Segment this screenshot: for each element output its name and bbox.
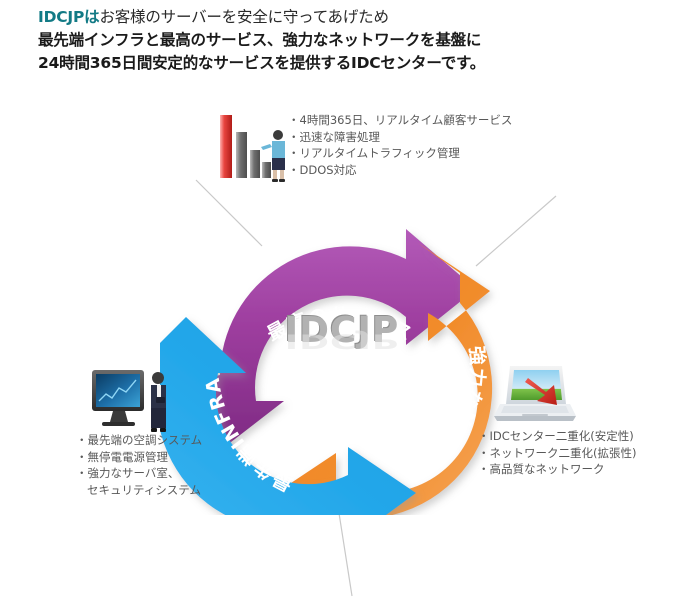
- list-item: ・4時間365日、リアルタイム顧客サービス: [288, 112, 512, 129]
- list-item: ・強力なサーバ室、: [76, 465, 202, 482]
- list-item: ・IDCセンター二重化(安定性): [478, 428, 636, 445]
- list-item: ・最先端の空調システム: [76, 432, 202, 449]
- list-item: ・迅速な障害処理: [288, 129, 512, 146]
- list-item: ・リアルタイムトラフィック管理: [288, 145, 512, 162]
- page-heading: IDCJPはお客様のサーバーを安全に守ってあげため 最先端インフラと最高のサービ…: [38, 6, 638, 75]
- center-logo-reflection: IDCJP: [262, 330, 422, 351]
- bar-4: [262, 162, 271, 178]
- monitor: [92, 370, 144, 426]
- brand-name: IDCJPは: [38, 8, 99, 26]
- list-item: ・無停電電源管理: [76, 449, 202, 466]
- list-item: ・ネットワーク二重化(拡張性): [478, 445, 636, 462]
- callout-left-list: ・最先端の空調システム ・無停電電源管理 ・強力なサーバ室、 セキュリティシステ…: [76, 432, 202, 498]
- heading-line-1: IDCJPはお客様のサーバーを安全に守ってあげため: [38, 6, 638, 29]
- callout-right-list: ・IDCセンター二重化(安定性) ・ネットワーク二重化(拡張性) ・高品質なネッ…: [478, 428, 636, 478]
- heading-line-1-text: お客様のサーバーを安全に守ってあげため: [99, 8, 388, 26]
- bar-1: [220, 115, 232, 178]
- heading-line-3: 24時間365日間安定的なサービスを提供するIDCセンターです。: [38, 52, 638, 75]
- callout-top-list: ・4時間365日、リアルタイム顧客サービス ・迅速な障害処理 ・リアルタイムトラ…: [288, 112, 512, 178]
- bar-2: [236, 132, 247, 178]
- businessman-figure: [151, 372, 166, 432]
- center-logo: IDCJP IDCJP: [262, 312, 422, 389]
- desktop-monitor-businessman-icon: [86, 364, 178, 436]
- bar-3: [250, 150, 260, 178]
- laptop: [494, 366, 576, 421]
- list-item: ・DDOS対応: [288, 162, 512, 179]
- list-item: ・高品質なネットワーク: [478, 461, 636, 478]
- heading-line-2: 最先端インフラと最高のサービス、強力なネットワークを基盤に: [38, 29, 638, 52]
- bar-chart-presenter-icon: [212, 104, 290, 186]
- laptop-red-arrow-icon: [492, 362, 578, 428]
- list-item: セキュリティシステム: [76, 482, 202, 499]
